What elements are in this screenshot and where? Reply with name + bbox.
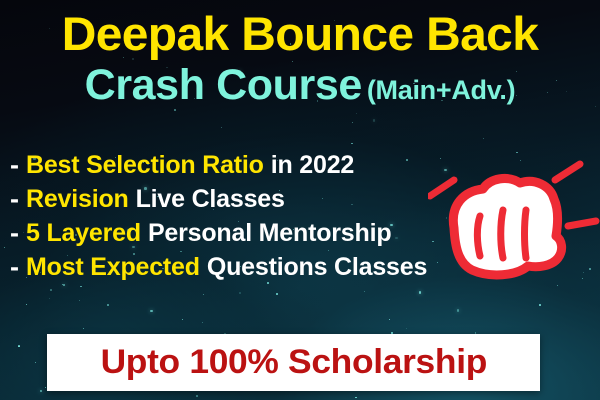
subtitle-suffix: (Main+Adv.) <box>367 75 515 105</box>
feature-list: - Best Selection Ratio in 2022 - Revisio… <box>10 148 480 284</box>
page-title: Deepak Bounce Back <box>0 10 600 57</box>
bullet-dash-icon: - <box>10 152 19 179</box>
scholarship-text: Upto 100% Scholarship <box>100 343 486 382</box>
scholarship-banner: Upto 100% Scholarship <box>47 334 540 391</box>
bullet-dash-icon: - <box>10 254 19 281</box>
bullet-text: Live Classes <box>136 185 285 214</box>
bullet-text: in 2022 <box>271 151 354 180</box>
list-item: - Revision Live Classes <box>10 182 480 216</box>
promo-banner: Deepak Bounce Back Crash Course(Main+Adv… <box>0 0 600 400</box>
bullet-highlight: Best Selection Ratio <box>26 151 264 180</box>
bullet-dash-icon: - <box>10 220 19 247</box>
list-item: - 5 Layered Personal Mentorship <box>10 216 480 250</box>
bullet-highlight: Most Expected <box>26 253 200 282</box>
bullet-highlight: Revision <box>26 185 129 214</box>
fist-bump-icon <box>428 158 600 284</box>
subtitle-main: Crash Course <box>85 61 362 109</box>
bullet-dash-icon: - <box>10 186 19 213</box>
bullet-text: Questions Classes <box>207 253 427 282</box>
bullet-highlight: 5 Layered <box>26 219 141 248</box>
bullet-text: Personal Mentorship <box>148 219 391 248</box>
list-item: - Most Expected Questions Classes <box>10 250 480 284</box>
subtitle-line: Crash Course(Main+Adv.) <box>0 64 600 107</box>
list-item: - Best Selection Ratio in 2022 <box>10 148 480 182</box>
headline-block: Deepak Bounce Back Crash Course(Main+Adv… <box>0 10 600 107</box>
